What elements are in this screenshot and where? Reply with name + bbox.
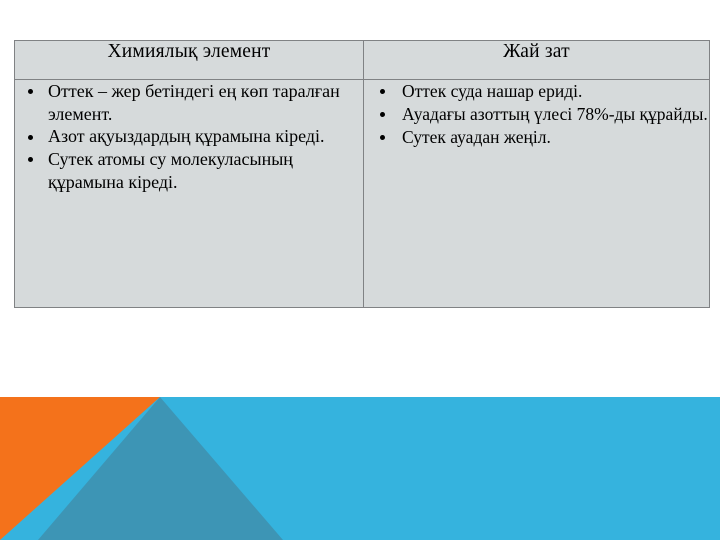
simple-substance-bullet-list: Оттек суда нашар ериді. Ауадағы азоттың … xyxy=(364,80,709,149)
table-body: Оттек – жер бетіндегі ең көп таралған эл… xyxy=(15,80,710,308)
decoration-svg xyxy=(0,397,720,540)
bottom-triangles-graphic xyxy=(0,397,720,540)
table-row: Оттек – жер бетіндегі ең көп таралған эл… xyxy=(15,80,710,308)
content-table-container: Химиялық элемент Жай зат Оттек – жер бет… xyxy=(14,40,707,308)
table-header-row: Химиялық элемент Жай зат xyxy=(15,41,710,80)
table-header-row-group: Химиялық элемент Жай зат xyxy=(15,41,710,80)
list-item: Сутек атомы су молекуласының құрамына кі… xyxy=(22,148,363,193)
cell-chemical-element: Оттек – жер бетіндегі ең көп таралған эл… xyxy=(15,80,364,308)
column-header-chemical-element: Химиялық элемент xyxy=(15,41,364,80)
list-item: Ауадағы азоттың үлесі 78%-ды құрайды. xyxy=(374,103,709,126)
list-item: Оттек – жер бетіндегі ең көп таралған эл… xyxy=(22,80,363,125)
cell-simple-substance: Оттек суда нашар ериді. Ауадағы азоттың … xyxy=(364,80,710,308)
list-item: Оттек суда нашар ериді. xyxy=(374,80,709,103)
comparison-table: Химиялық элемент Жай зат Оттек – жер бет… xyxy=(14,40,710,308)
chemical-element-bullet-list: Оттек – жер бетіндегі ең көп таралған эл… xyxy=(15,80,363,193)
list-item: Азот ақуыздардың құрамына кіреді. xyxy=(22,125,363,148)
list-item: Сутек ауадан жеңіл. xyxy=(374,126,709,149)
column-header-simple-substance: Жай зат xyxy=(364,41,710,80)
